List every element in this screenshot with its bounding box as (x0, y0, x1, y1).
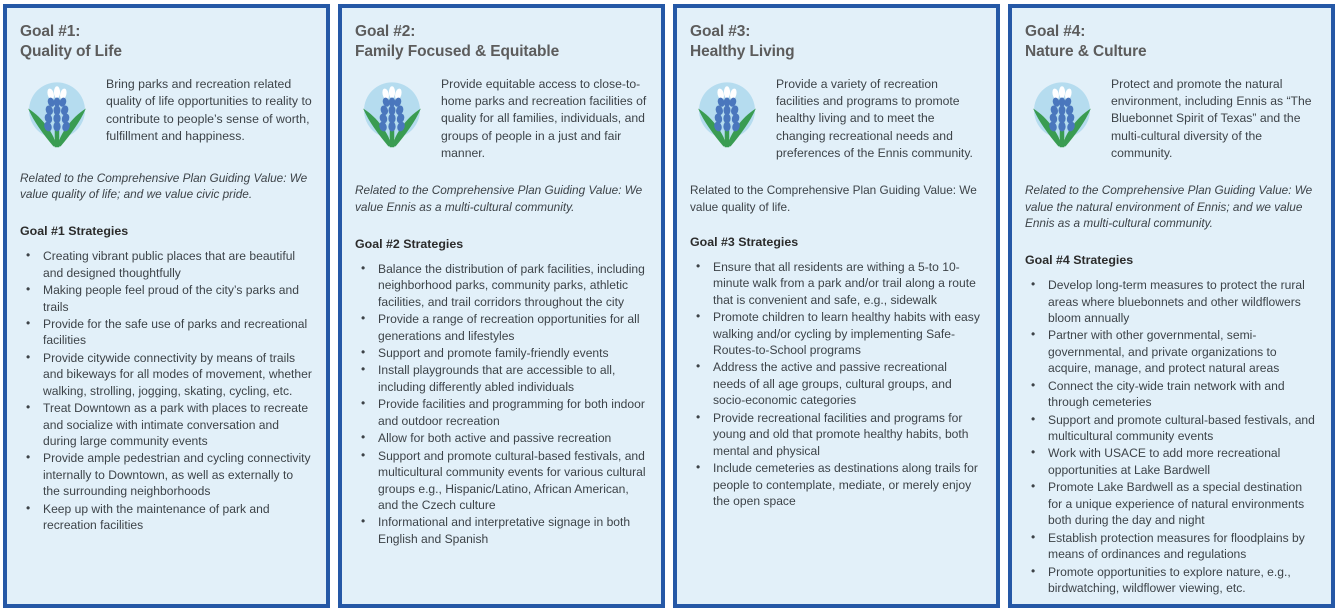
strategy-list: Balance the distribution of park facilit… (355, 261, 648, 548)
strategy-item: Provide citywide connectivity by means o… (20, 350, 313, 399)
strategy-item: Partner with other governmental, semi-go… (1025, 327, 1318, 376)
goal-summary-row: Provide a variety of recreation faciliti… (690, 74, 983, 163)
bluebonnet-icon (690, 76, 764, 150)
strategy-item: Promote Lake Bardwell as a special desti… (1025, 479, 1318, 528)
strategies-heading: Goal #1 Strategies (20, 224, 313, 238)
strategy-list: Develop long-term measures to protect th… (1025, 277, 1318, 597)
related-guiding-value: Related to the Comprehensive Plan Guidin… (355, 182, 648, 215)
goal-summary-row: Provide equitable access to close-to-hom… (355, 74, 648, 163)
bluebonnet-icon (355, 76, 429, 150)
goals-board: Goal #1: Quality of Life Bring parks and… (0, 0, 1338, 614)
strategy-item: Install playgrounds that are accessible … (355, 362, 648, 395)
strategy-item: Support and promote cultural-based festi… (355, 448, 648, 514)
bluebonnet-icon (20, 76, 94, 150)
strategies-heading: Goal #4 Strategies (1025, 253, 1318, 267)
goal-summary-row: Bring parks and recreation related quali… (20, 74, 313, 150)
strategy-item: Support and promote cultural-based festi… (1025, 412, 1318, 445)
goal-card-1: Goal #1: Quality of Life Bring parks and… (3, 4, 330, 608)
goal-summary-text: Protect and promote the natural environm… (1111, 74, 1318, 163)
strategy-item: Allow for both active and passive recrea… (355, 430, 648, 446)
goal-card-3: Goal #3: Healthy Living Provide a variet… (673, 4, 1000, 608)
related-guiding-value: Related to the Comprehensive Plan Guidin… (1025, 182, 1318, 231)
goal-title: Goal #1: Quality of Life (20, 22, 313, 62)
strategy-item: Provide for the safe use of parks and re… (20, 316, 313, 349)
strategy-item: Informational and interpretative signage… (355, 514, 648, 547)
goal-title: Goal #3: Healthy Living (690, 22, 983, 62)
strategy-item: Provide ample pedestrian and cycling con… (20, 450, 313, 499)
goal-title: Goal #4: Nature & Culture (1025, 22, 1318, 62)
strategy-item: Support and promote family-friendly even… (355, 345, 648, 361)
goal-card-2: Goal #2: Family Focused & Equitable Prov… (338, 4, 665, 608)
strategy-item: Treat Downtown as a park with places to … (20, 400, 313, 449)
strategy-item: Work with USACE to add more recreational… (1025, 445, 1318, 478)
strategies-heading: Goal #3 Strategies (690, 235, 983, 249)
strategy-list: Creating vibrant public places that are … (20, 248, 313, 534)
strategy-item: Keep up with the maintenance of park and… (20, 501, 313, 534)
strategy-item: Provide facilities and programming for b… (355, 396, 648, 429)
strategies-heading: Goal #2 Strategies (355, 237, 648, 251)
goal-title: Goal #2: Family Focused & Equitable (355, 22, 648, 62)
strategy-item: Promote opportunities to explore nature,… (1025, 564, 1318, 597)
strategy-item: Establish protection measures for floodp… (1025, 530, 1318, 563)
strategy-item: Develop long-term measures to protect th… (1025, 277, 1318, 326)
goal-card-4: Goal #4: Nature & Culture Protect and pr… (1008, 4, 1335, 608)
goal-summary-text: Bring parks and recreation related quali… (106, 74, 313, 146)
related-guiding-value: Related to the Comprehensive Plan Guidin… (690, 182, 983, 215)
goal-summary-text: Provide a variety of recreation faciliti… (776, 74, 983, 163)
related-guiding-value: Related to the Comprehensive Plan Guidin… (20, 170, 313, 203)
strategy-item: Provide a range of recreation opportunit… (355, 311, 648, 344)
goal-summary-row: Protect and promote the natural environm… (1025, 74, 1318, 163)
strategy-item: Address the active and passive recreatio… (690, 359, 983, 408)
strategy-item: Include cemeteries as destinations along… (690, 460, 983, 509)
strategy-item: Promote children to learn healthy habits… (690, 309, 983, 358)
bluebonnet-icon (1025, 76, 1099, 150)
strategy-item: Balance the distribution of park facilit… (355, 261, 648, 310)
strategy-item: Ensure that all residents are withing a … (690, 259, 983, 308)
strategy-item: Connect the city-wide train network with… (1025, 378, 1318, 411)
strategy-item: Making people feel proud of the city’s p… (20, 282, 313, 315)
goal-summary-text: Provide equitable access to close-to-hom… (441, 74, 648, 163)
strategy-item: Creating vibrant public places that are … (20, 248, 313, 281)
strategy-list: Ensure that all residents are withing a … (690, 259, 983, 511)
strategy-item: Provide recreational facilities and prog… (690, 410, 983, 459)
